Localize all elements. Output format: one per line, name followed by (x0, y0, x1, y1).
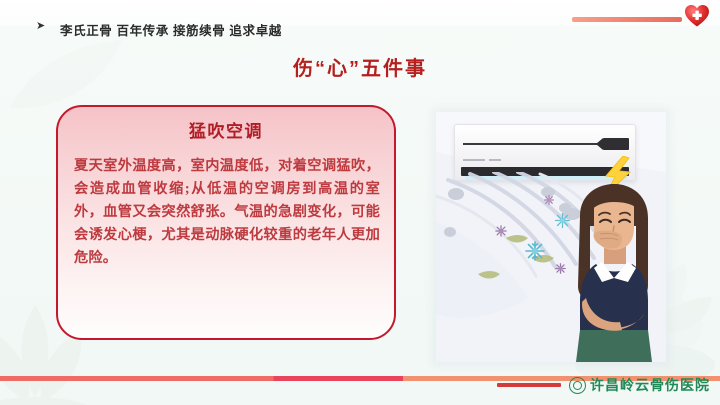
page-title: 伤“心”五件事 (0, 52, 720, 81)
slide-canvas: ➤ 李氏正骨 百年传承 接筋续骨 追求卓越 伤“心”五件事 (0, 0, 720, 405)
footer-logo: 许昌岭云骨伤医院 (497, 375, 710, 395)
content-card: 猛吹空调 夏天室外温度高，室内温度低，对着空调猛吹，会造成血管收缩;从低温的空调… (56, 105, 396, 340)
illustration-panel (436, 112, 666, 362)
chevron-right-bullet-icon: ➤ (36, 21, 45, 32)
ac-label-bar-2 (489, 159, 501, 161)
header-tagline: 李氏正骨 百年传承 接筋续骨 追求卓越 (60, 20, 282, 39)
footer-logo-dash (497, 383, 561, 387)
card-body-text: 夏天室外温度高，室内温度低，对着空调猛吹，会造成血管收缩;从低温的空调房到高温的… (74, 155, 380, 270)
snowflake-germ-icon (524, 240, 546, 262)
hospital-name: 许昌岭云骨伤医院 (590, 375, 710, 395)
ac-label-bar (463, 159, 485, 161)
header-accent-line (572, 17, 682, 22)
woman-covering-mouth-icon (556, 182, 666, 362)
hospital-ring-logo-icon (569, 377, 586, 394)
ac-knob (603, 138, 629, 150)
snowflake-germ-icon (494, 224, 508, 238)
heart-medical-cross-icon (684, 3, 710, 28)
card-heading: 猛吹空调 (58, 117, 394, 142)
snowflake-germ-icon (543, 194, 555, 206)
